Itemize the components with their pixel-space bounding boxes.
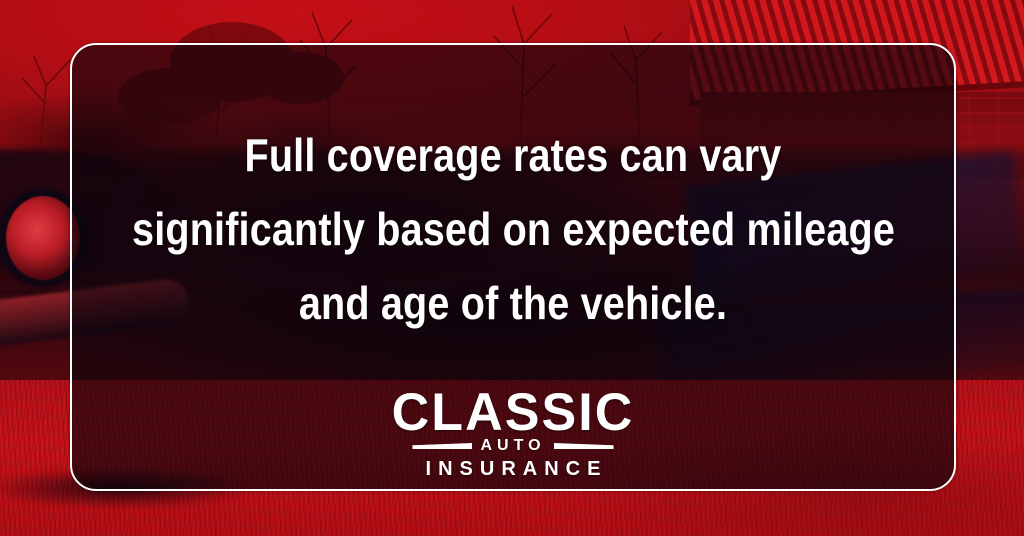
logo-product-text: INSURANCE <box>70 459 956 479</box>
headline-line-1: Full coverage rates can vary <box>132 118 894 192</box>
quote-card: Full coverage rates can vary significant… <box>0 0 1024 536</box>
brand-logo: CLASSIC AUTO INSURANCE <box>70 390 956 479</box>
logo-left-wedge-icon <box>412 443 472 449</box>
logo-brand-text: CLASSIC <box>52 389 973 436</box>
headline: Full coverage rates can vary significant… <box>132 118 894 340</box>
logo-right-wedge-icon <box>554 443 614 449</box>
headline-line-2: significantly based on expected mileage <box>132 192 894 266</box>
headline-line-3: and age of the vehicle. <box>132 266 894 340</box>
